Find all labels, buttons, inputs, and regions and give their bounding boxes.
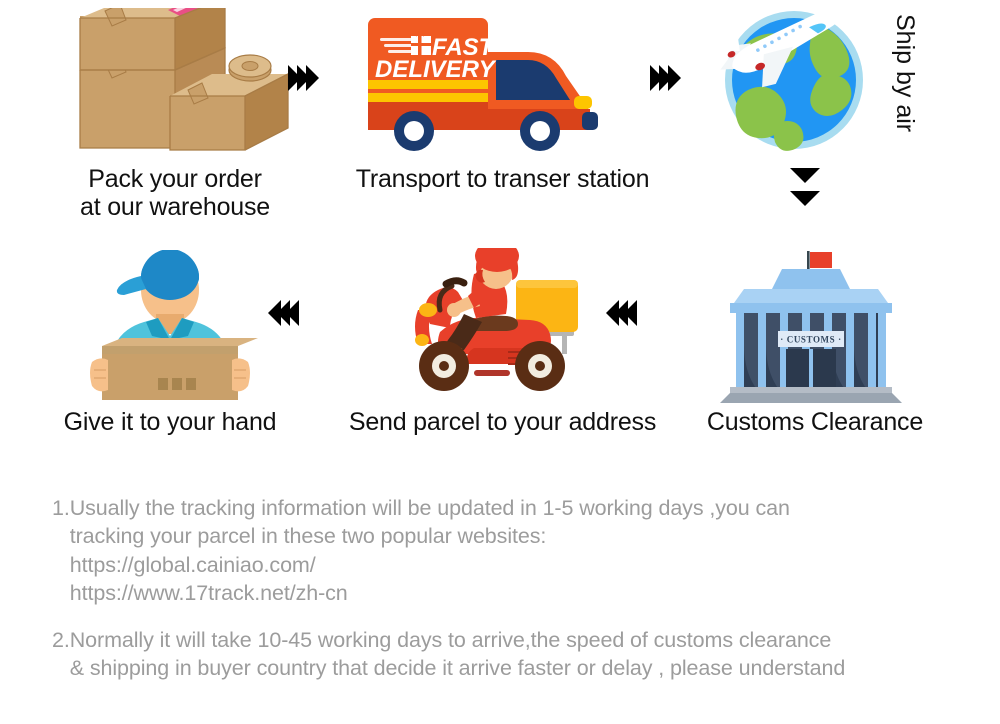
courier-with-box-icon <box>80 250 260 400</box>
step-ship-by-air-caption: Ship by air <box>890 14 919 132</box>
note-text: Normally it will take 10-45 working days… <box>70 626 982 683</box>
note-item: 1. Usually the tracking information will… <box>52 494 982 608</box>
step-pack-order <box>60 8 290 168</box>
customs-building-icon: · CUSTOMS · <box>706 245 916 405</box>
scooter-courier-icon <box>378 248 598 398</box>
truck-logo-delivery: DELIVERY <box>375 56 497 83</box>
step-transport-caption: Transport to transer station <box>330 165 675 193</box>
step-send-parcel <box>378 248 598 398</box>
chevron-right-icon <box>306 65 319 91</box>
note-item: 2. Normally it will take 10-45 working d… <box>52 626 982 683</box>
arrow-air-to-customs <box>790 168 820 214</box>
step-pack-order-caption: Pack your order at our warehouse <box>30 165 320 221</box>
globe-airplane-icon <box>718 4 878 159</box>
note-number: 1. <box>52 494 70 608</box>
chevron-left-icon <box>624 300 637 326</box>
arrow-pack-to-transport <box>288 65 315 91</box>
step-give-to-hand <box>80 250 260 400</box>
step-transport: FAST DELIVERY <box>368 14 628 159</box>
arrow-customs-to-scooter <box>606 300 633 326</box>
note-text: Usually the tracking information will be… <box>70 494 982 608</box>
step-customs: · CUSTOMS · <box>706 245 916 405</box>
arrow-scooter-to-hand <box>268 300 295 326</box>
cardboard-boxes-icon <box>60 8 290 166</box>
step-send-parcel-caption: Send parcel to your address <box>330 408 675 436</box>
delivery-truck-icon: FAST DELIVERY <box>368 14 628 159</box>
step-ship-by-air <box>718 4 878 159</box>
note-number: 2. <box>52 626 70 683</box>
chevron-down-icon <box>790 191 820 219</box>
step-give-to-hand-caption: Give it to your hand <box>40 408 300 436</box>
chevron-left-icon <box>286 300 299 326</box>
step-customs-caption: Customs Clearance <box>690 408 940 436</box>
customs-sign-text: · CUSTOMS · <box>780 335 841 345</box>
footer-notes: 1. Usually the tracking information will… <box>52 494 982 700</box>
infographic-page: Pack your order at our warehouse <box>0 0 1000 724</box>
arrow-transport-to-air <box>650 65 677 91</box>
chevron-right-icon <box>668 65 681 91</box>
